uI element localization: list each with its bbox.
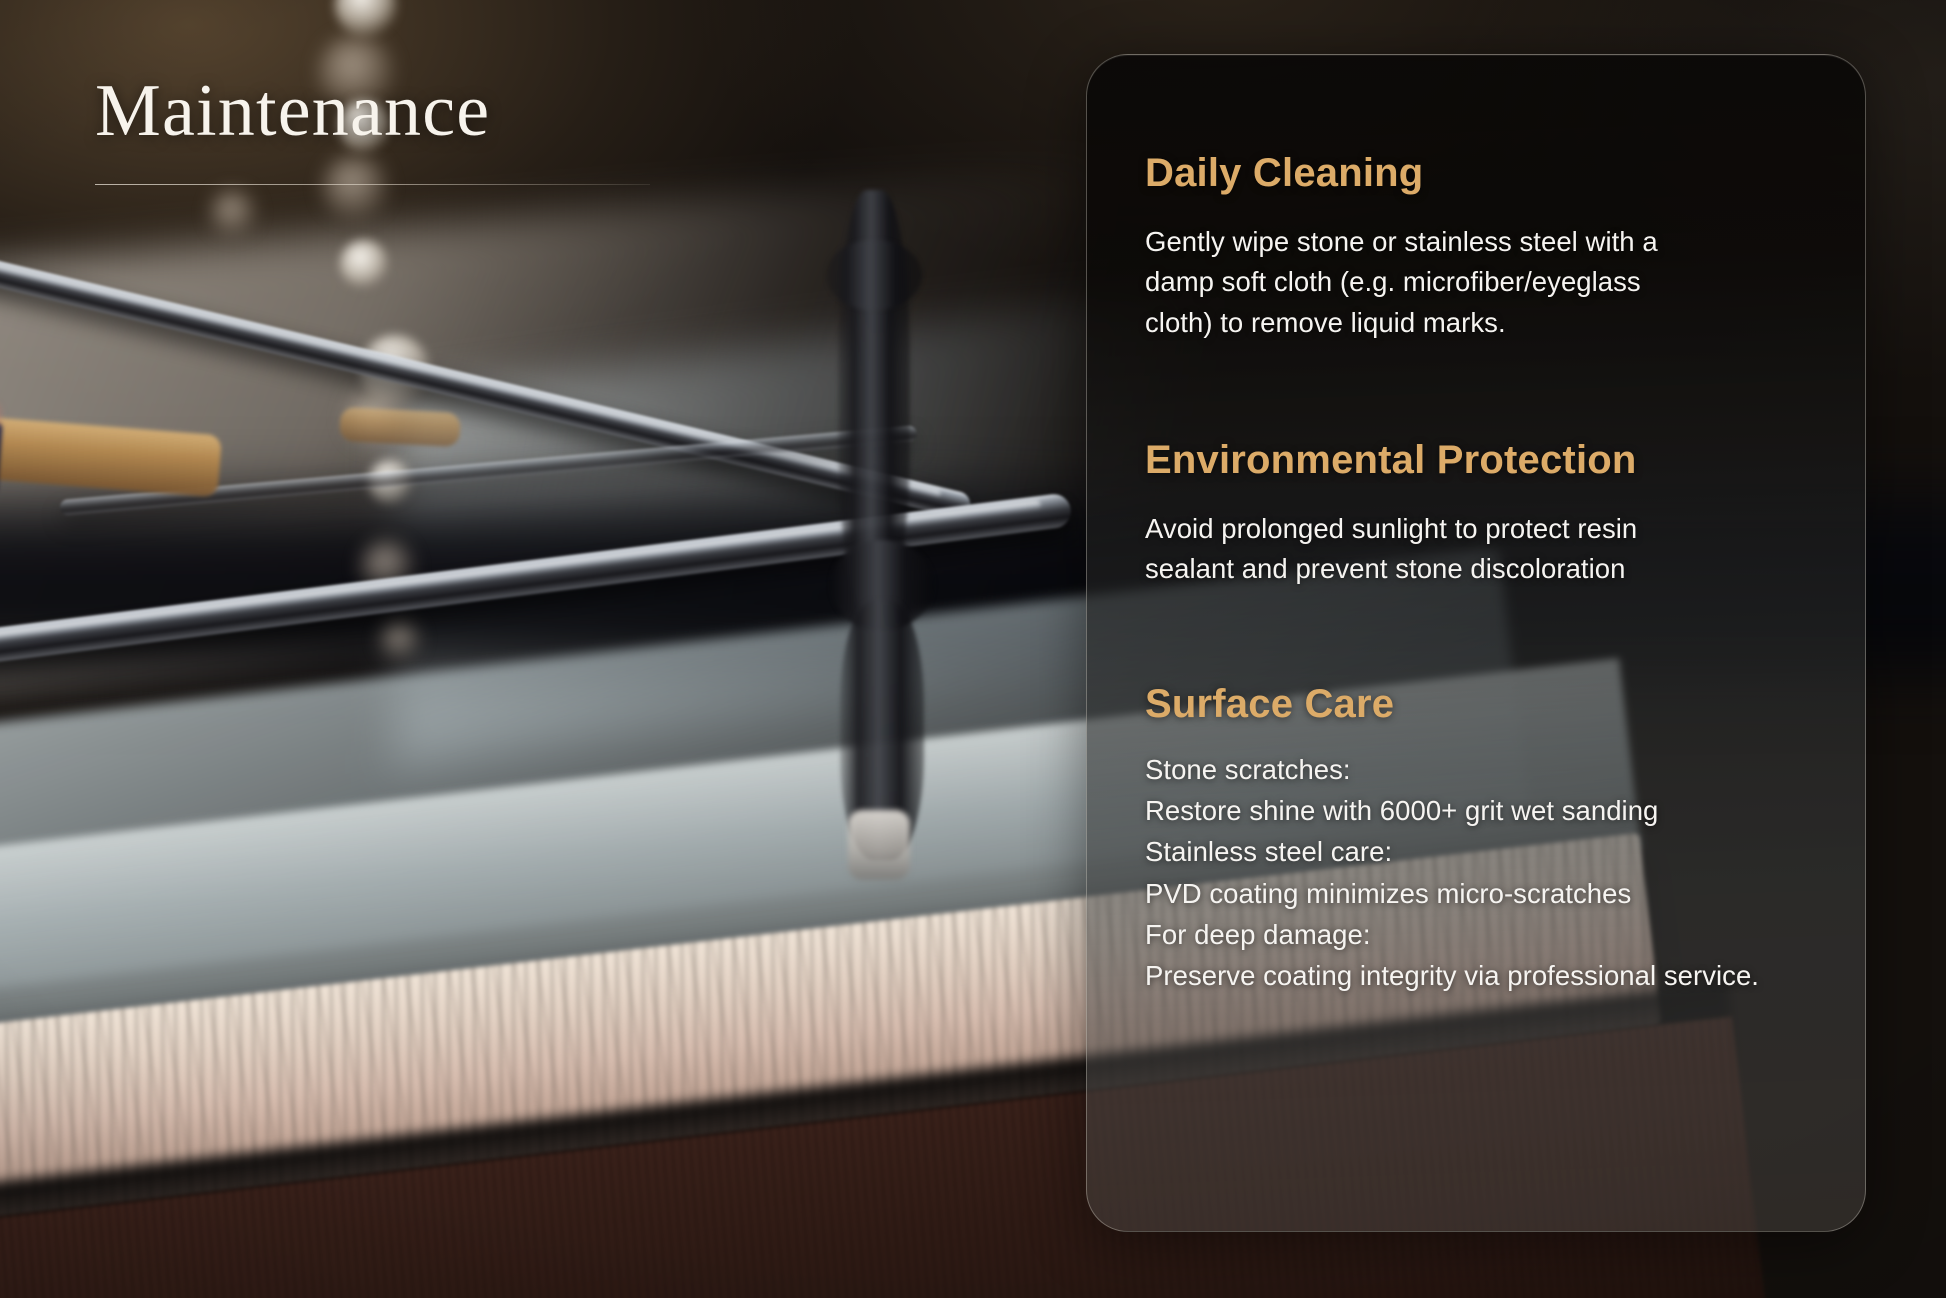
section-heading-environmental-protection: Environmental Protection bbox=[1145, 438, 1807, 483]
section-heading-daily-cleaning: Daily Cleaning bbox=[1145, 151, 1807, 196]
surface-care-line: PVD coating minimizes micro-scratches bbox=[1145, 873, 1807, 914]
section-daily-cleaning: Daily Cleaning Gently wipe stone or stai… bbox=[1145, 151, 1807, 344]
surface-care-line: For deep damage: bbox=[1145, 914, 1807, 955]
surface-care-line: Stainless steel care: bbox=[1145, 831, 1807, 872]
title-divider bbox=[95, 184, 650, 185]
page-title: Maintenance bbox=[95, 72, 715, 152]
title-block: Maintenance bbox=[95, 72, 715, 185]
section-heading-surface-care: Surface Care bbox=[1145, 682, 1807, 727]
section-body-surface-care: Stone scratches: Restore shine with 6000… bbox=[1145, 749, 1807, 997]
section-environmental-protection: Environmental Protection Avoid prolonged… bbox=[1145, 438, 1807, 590]
surface-care-line: Stone scratches: bbox=[1145, 749, 1807, 790]
maintenance-panel: Daily Cleaning Gently wipe stone or stai… bbox=[1086, 54, 1866, 1232]
surface-care-line: Restore shine with 6000+ grit wet sandin… bbox=[1145, 790, 1807, 831]
section-body-environmental-protection: Avoid prolonged sunlight to protect resi… bbox=[1145, 509, 1705, 590]
slide-canvas: Maintenance Daily Cleaning Gently wipe s… bbox=[0, 0, 1946, 1298]
surface-care-line: Preserve coating integrity via professio… bbox=[1145, 955, 1807, 996]
section-body-daily-cleaning: Gently wipe stone or stainless steel wit… bbox=[1145, 222, 1705, 344]
section-surface-care: Surface Care Stone scratches: Restore sh… bbox=[1145, 682, 1807, 996]
